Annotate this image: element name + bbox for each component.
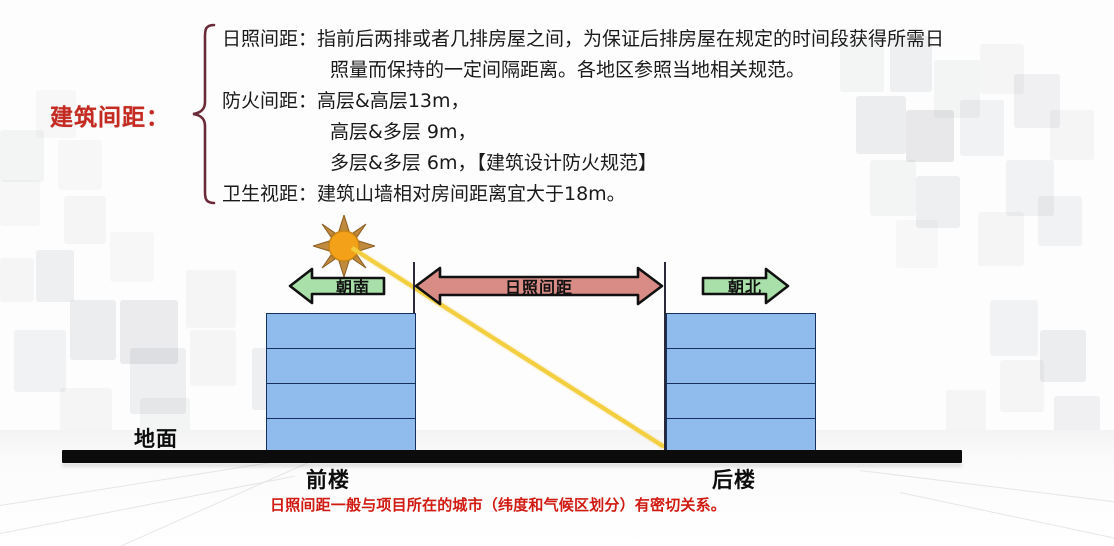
definition-line-6: 卫生视距：建筑山墙相对房间距离宜大于18m。 bbox=[222, 179, 1102, 210]
mosaic-tile bbox=[1040, 330, 1086, 382]
mosaic-tile bbox=[978, 212, 1024, 266]
front-building[interactable] bbox=[266, 313, 416, 453]
mosaic-tile bbox=[120, 300, 178, 364]
building-floor bbox=[266, 383, 416, 419]
arrow-north[interactable]: 朝北 bbox=[700, 266, 790, 306]
mosaic-tile bbox=[70, 300, 116, 360]
mosaic-tile bbox=[990, 300, 1038, 356]
page-title: 建筑间距： bbox=[50, 98, 170, 132]
mosaic-tile bbox=[64, 196, 106, 244]
arrow-north-label: 朝北 bbox=[700, 274, 810, 298]
building-floor bbox=[666, 313, 816, 349]
building-floor bbox=[666, 418, 816, 454]
mosaic-tile bbox=[190, 330, 236, 386]
arrow-spacing-label: 日照间距 bbox=[414, 274, 664, 298]
building-floor bbox=[666, 348, 816, 384]
back-building-label: 后楼 bbox=[712, 464, 756, 494]
ground-label: 地面 bbox=[134, 423, 178, 453]
arrow-spacing[interactable]: 日照间距 bbox=[414, 264, 664, 308]
definition-line-3: 防火间距：高层&高层13m， bbox=[222, 86, 1102, 117]
arrow-south-label: 朝南 bbox=[288, 274, 402, 298]
mosaic-tile bbox=[1000, 360, 1044, 412]
mosaic-tile bbox=[896, 220, 938, 268]
ground-bar bbox=[62, 450, 962, 463]
mosaic-tile bbox=[0, 258, 34, 302]
building-floor bbox=[266, 418, 416, 454]
footer-caption: 日照间距一般与项目所在的城市（纬度和气候区划分）有密切关系。 bbox=[270, 494, 726, 515]
ground-shadow bbox=[62, 463, 962, 467]
mosaic-tile bbox=[36, 250, 74, 302]
building-floor bbox=[666, 383, 816, 419]
front-building-label: 前楼 bbox=[306, 464, 350, 494]
definition-line-1: 日照间距：指前后两排或者几排房屋之间，为保证后排房屋在规定的时间段获得所需日 bbox=[222, 24, 1102, 55]
mosaic-tile bbox=[14, 330, 66, 392]
mosaic-tile bbox=[110, 232, 154, 282]
definition-text-block: 日照间距：指前后两排或者几排房屋之间，为保证后排房屋在规定的时间段获得所需日 照… bbox=[222, 24, 1102, 210]
back-building[interactable] bbox=[666, 313, 816, 453]
mosaic-tile bbox=[130, 348, 186, 414]
slide-canvas: 建筑间距： 日照间距：指前后两排或者几排房屋之间，为保证后排房屋在规定的时间段获… bbox=[0, 0, 1114, 546]
mosaic-tile bbox=[0, 180, 40, 226]
curly-brace-icon bbox=[190, 22, 216, 206]
mosaic-tile bbox=[186, 270, 236, 328]
definition-line-5: 多层&多层 6m，【建筑设计防火规范】 bbox=[222, 148, 1102, 179]
arrow-south[interactable]: 朝南 bbox=[288, 266, 386, 306]
building-floor bbox=[266, 348, 416, 384]
definition-line-2: 照量而保持的一定间隔距离。各地区参照当地相关规范。 bbox=[222, 55, 1102, 86]
mosaic-tile bbox=[58, 140, 102, 190]
building-floor bbox=[266, 313, 416, 349]
mosaic-tile bbox=[0, 130, 44, 182]
definition-line-4: 高层&多层 9m， bbox=[222, 117, 1102, 148]
